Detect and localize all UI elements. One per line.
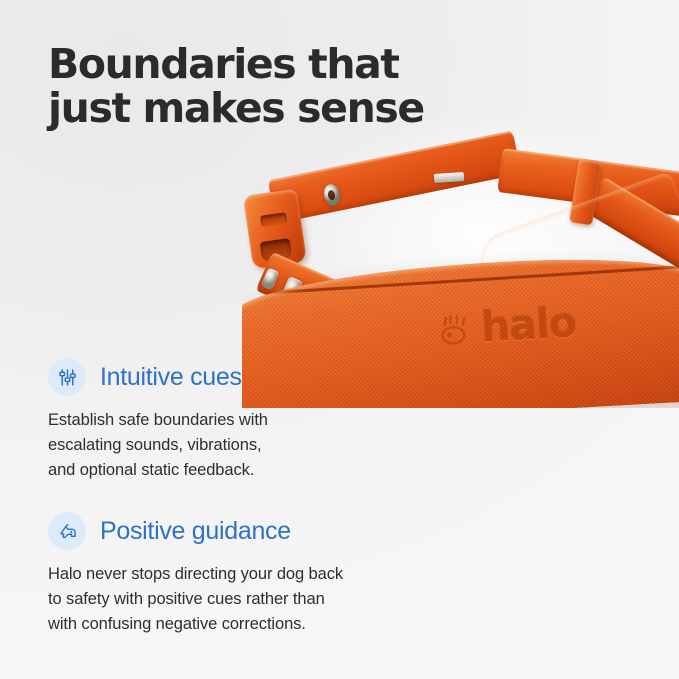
paw-print-icon — [437, 313, 473, 345]
feature-block-intuitive-cues: Intuitive cues Establish safe boundaries… — [48, 358, 448, 483]
feature-body: Halo never stops directing your dog back… — [48, 562, 448, 637]
feature-heading: Positive guidance — [48, 512, 448, 550]
feature-title: Intuitive cues — [100, 365, 242, 390]
feature-heading: Intuitive cues — [48, 358, 448, 396]
marketing-image: halo Boundaries that just makes sense — [0, 0, 679, 679]
halo-wordmark: halo — [480, 302, 577, 348]
strap-upper-left — [268, 131, 522, 224]
sliders-icon — [48, 358, 86, 396]
halo-logo: halo — [437, 302, 577, 350]
page-title: Boundaries that just makes sense — [48, 42, 468, 131]
buckle-slot — [260, 212, 287, 227]
dog-head-icon — [48, 512, 86, 550]
feature-block-positive-guidance: Positive guidance Halo never stops direc… — [48, 512, 448, 637]
feature-title: Positive guidance — [100, 519, 291, 544]
feature-body: Establish safe boundaries with escalatin… — [48, 408, 448, 483]
